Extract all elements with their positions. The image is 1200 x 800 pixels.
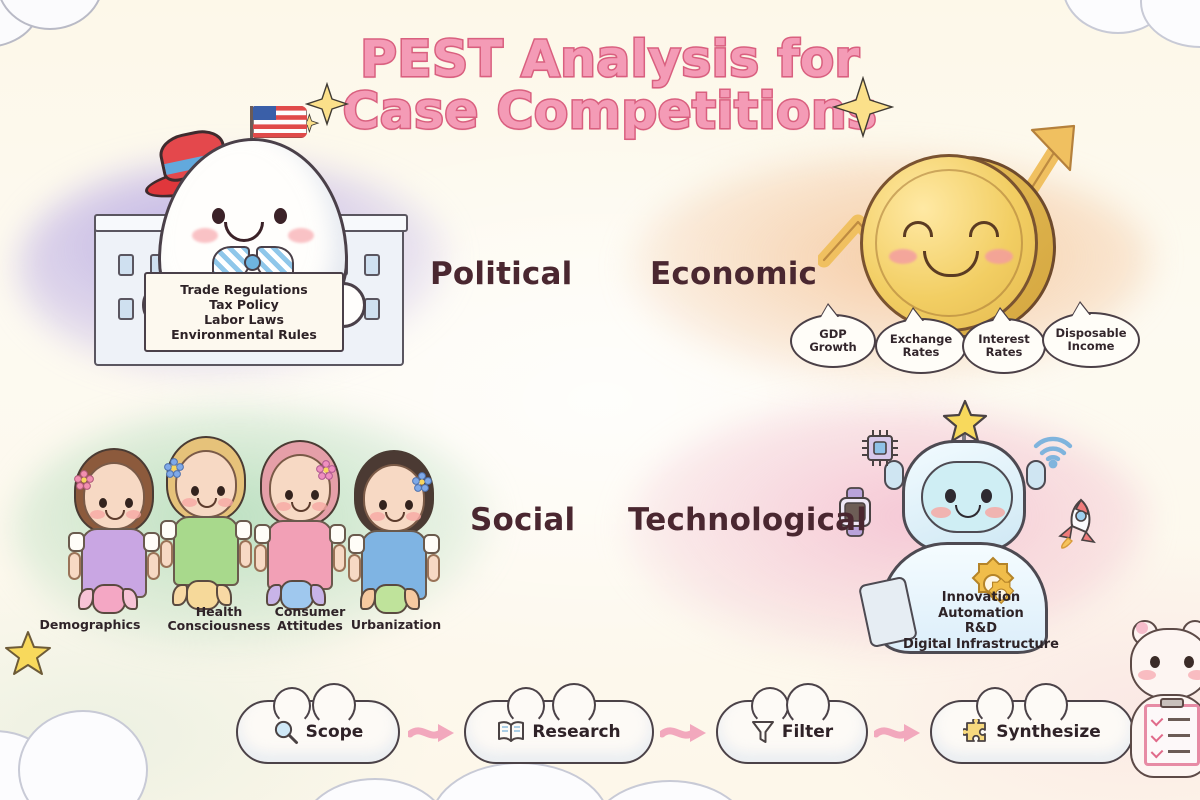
hair-flower-icon: [164, 458, 184, 478]
flow-arrow-3: [874, 720, 928, 748]
wifi-icon: [1028, 426, 1076, 470]
process-flow: Scope Research Filter: [236, 694, 986, 778]
policy-item-0: Trade Regulations: [180, 283, 307, 297]
title-line-1: PEST Analysis for: [330, 34, 890, 86]
mascot-cheek-left: [192, 228, 218, 243]
child-figure-1: [68, 448, 160, 598]
policy-item-2: Labor Laws: [204, 313, 284, 327]
economic-bubble-interest-rates: Interest Rates: [962, 318, 1046, 374]
technological-illustration: Innovation Automation R&D Digital Infras…: [836, 404, 1116, 664]
candy-icon-demographics: [78, 584, 138, 614]
flow-step-label: Synthesize: [996, 722, 1101, 742]
open-book-icon: [497, 720, 525, 744]
hair-flower-icon: [316, 460, 336, 480]
label-line-1: Health: [164, 605, 274, 619]
policy-sign: Trade Regulations Tax Policy Labor Laws …: [144, 272, 344, 352]
flow-step-research[interactable]: Research: [464, 700, 654, 764]
quadrant-label-economic: Economic: [650, 256, 817, 292]
robot-mascot: [902, 440, 1026, 552]
child-figure-2: [160, 436, 252, 586]
candy-icon-urbanization: [360, 584, 420, 614]
puzzle-piece-icon: [963, 719, 989, 745]
funnel-icon: [751, 719, 775, 745]
technology-note-list: Innovation Automation R&D Digital Infras…: [876, 590, 1086, 652]
economic-bubble-exchange-rates: Exchange Rates: [875, 318, 967, 374]
economic-bubble-disposable-income: Disposable Income: [1042, 312, 1140, 368]
child-figure-3: [254, 440, 346, 590]
cloud-top-left: [0, 0, 160, 56]
coin-cheek-left: [889, 249, 917, 264]
quadrant-label-social: Social: [470, 502, 575, 538]
quadrant-label-technological: Technological: [628, 502, 867, 538]
bubble-line-2: Income: [1068, 340, 1115, 353]
political-illustration: Trade Regulations Tax Policy Labor Laws …: [86, 96, 416, 396]
coin-cheek-right: [985, 249, 1013, 264]
flow-step-filter[interactable]: Filter: [716, 700, 868, 764]
tech-item-2: R&D: [876, 621, 1086, 637]
tech-item-1: Automation: [876, 606, 1086, 622]
hair-flower-icon: [412, 472, 432, 492]
rocket-icon: [1048, 496, 1100, 550]
policy-item-1: Tax Policy: [209, 298, 279, 312]
infographic-canvas: PEST Analysis for Case Competitions: [0, 0, 1200, 800]
hair-flower-icon: [74, 470, 94, 490]
flow-step-label: Filter: [782, 722, 833, 742]
social-label-health-consciousness: Health Consciousness: [164, 605, 274, 633]
child-figure-4: [348, 450, 440, 600]
label-line-2: Consciousness: [164, 619, 274, 633]
coin-mascot: [860, 154, 1038, 332]
flow-step-label: Research: [532, 722, 620, 742]
mascot-cheek-right: [288, 228, 314, 243]
bubble-line-2: Growth: [809, 341, 856, 354]
flow-step-scope[interactable]: Scope: [236, 700, 400, 764]
chip-icon: [858, 426, 902, 470]
economic-bubble-gdp-growth: GDP Growth: [790, 314, 876, 368]
star-icon-left-edge: [2, 628, 54, 680]
star-icon: [942, 398, 988, 444]
flow-arrow-2: [660, 720, 714, 748]
quadrant-label-political: Political: [430, 256, 572, 292]
social-label-urbanization: Urbanization: [340, 618, 452, 632]
mascot-eye-right: [274, 208, 287, 224]
tech-item-3: Digital Infrastructure: [876, 637, 1086, 653]
magnifier-icon: [273, 719, 299, 745]
us-flag-icon: [253, 106, 307, 138]
flow-step-label: Scope: [306, 722, 364, 742]
bowtie-knot: [244, 254, 261, 271]
cloud-bottom-left: [0, 700, 176, 800]
label-line-1: Urbanization: [351, 617, 441, 632]
flow-step-synthesize[interactable]: Synthesize: [930, 700, 1134, 764]
cloud-top-right: [1062, 0, 1200, 52]
flow-arrow-1: [408, 720, 462, 748]
label-line-1: Demographics: [40, 617, 141, 632]
bear-with-clipboard-mascot: [1126, 612, 1200, 792]
bubble-line-2: Rates: [903, 346, 940, 359]
bubble-line-2: Rates: [986, 346, 1023, 359]
policy-item-3: Environmental Rules: [171, 328, 317, 342]
tech-item-0: Innovation: [876, 590, 1086, 606]
label-line-1: Consumer: [264, 605, 356, 619]
